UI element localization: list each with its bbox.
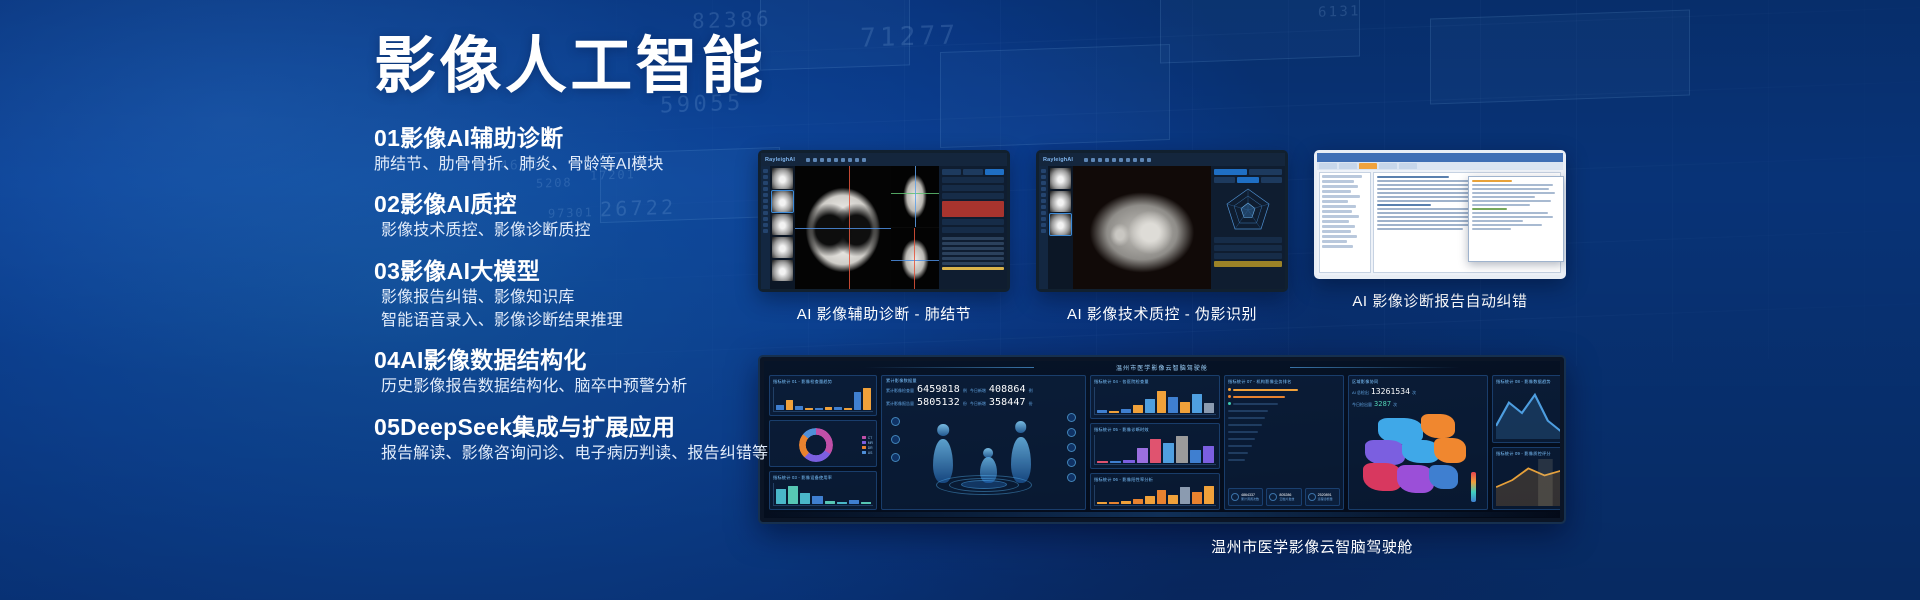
- feature-desc: 历史影像报告数据结构化、脑卒中预警分析: [374, 376, 844, 399]
- chart-legend: CT MR DR US: [862, 436, 873, 455]
- ranking-list[interactable]: [1228, 387, 1340, 486]
- feature-title: 04AI影像数据结构化: [374, 345, 844, 376]
- document-body: [1317, 170, 1563, 275]
- findings-row[interactable]: [942, 193, 1004, 199]
- map-region[interactable]: [1434, 438, 1466, 462]
- map-kpi-label: 今日检出量: [1352, 402, 1372, 408]
- tab[interactable]: [1319, 163, 1337, 169]
- feature-desc: 影像报告纠错、影像知识库: [374, 287, 844, 310]
- series-thumbnail[interactable]: [1050, 168, 1071, 189]
- dashboard-bezel: 温州市医学影像云智脑驾驶舱 指标统计 01 - 影像检查量趋势: [758, 355, 1566, 524]
- map-kpi-row: AI 总检出 13261534 次: [1352, 387, 1484, 396]
- map-kpi-value: 13261534: [1371, 387, 1410, 396]
- panel-button[interactable]: [963, 169, 982, 175]
- figure-adult-right: [1011, 437, 1031, 483]
- dashboard-card-spark1[interactable]: 指标统计 08 - 影像数据趋势: [1492, 375, 1560, 443]
- page-title: 影像人工智能: [374, 34, 844, 101]
- reset-icon[interactable]: [855, 158, 859, 162]
- hologram-ring-inner: [961, 480, 1007, 489]
- dashboard-column-6: 指标统计 08 - 影像数据趋势 指标统计 09 - 影像质控评分: [1492, 375, 1560, 510]
- figure-adult-left: [933, 439, 953, 483]
- list-item[interactable]: [1228, 422, 1340, 428]
- list-item[interactable]: [1228, 387, 1340, 393]
- hero-unit2: 例: [1029, 388, 1033, 394]
- app-body: [1039, 166, 1285, 289]
- panel-button-row[interactable]: [942, 169, 1004, 175]
- hero-label2: 今日新增: [970, 388, 986, 394]
- tab[interactable]: [1379, 163, 1397, 169]
- tab[interactable]: [1399, 163, 1417, 169]
- layout-icon[interactable]: [848, 158, 852, 162]
- dashboard-hero-panel[interactable]: 累计影像数据量 累计影像检查量 6459818 例 今日新增 408864 例 …: [881, 375, 1086, 510]
- summary-tile[interactable]: 805286 云胶片发放: [1266, 488, 1301, 506]
- card-header: 指标统计 09 - 影像质控评分: [1496, 451, 1560, 457]
- app-titlebar: [1317, 153, 1563, 162]
- screenshot-frame-2: RayleighAI: [1036, 150, 1288, 292]
- qc-score-panel[interactable]: [1211, 166, 1285, 289]
- feature-title: 05DeepSeek集成与扩展应用: [374, 412, 844, 443]
- orbit-node-icon[interactable]: [1067, 473, 1076, 482]
- correction-popup-panel[interactable]: [1468, 176, 1564, 262]
- feature-list: 影像人工智能 01影像AI辅助诊断 肺结节、肋骨骨折、肺炎、骨龄等AI模块 02…: [374, 34, 844, 478]
- list-item[interactable]: [1228, 429, 1340, 435]
- feature-title: 02影像AI质控: [374, 189, 844, 220]
- map-kpi-row: 今日检出量 3287 次: [1352, 400, 1484, 408]
- card-header: 指标统计 07 - 机构影像业务排名: [1228, 379, 1340, 385]
- feature-desc: 肺结节、肋骨骨折、肺炎、骨龄等AI模块: [374, 154, 844, 177]
- qc-result-row[interactable]: [1214, 237, 1282, 243]
- list-item[interactable]: [1228, 408, 1340, 414]
- hero-value2: 358447: [989, 397, 1026, 408]
- feature-desc: 报告解读、影像咨询问诊、电子病历判读、报告纠错等: [374, 443, 844, 466]
- bar-chart: [1094, 485, 1216, 506]
- hero-label2: 今日新增: [970, 401, 986, 407]
- orbit-node-icon[interactable]: [1067, 458, 1076, 467]
- panel-button-active[interactable]: [1237, 177, 1258, 183]
- qc-result-row[interactable]: [1214, 253, 1282, 259]
- feature-desc-line2: 智能语音录入、影像诊断结果推理: [374, 310, 844, 333]
- map-region[interactable]: [1429, 465, 1458, 489]
- pan-icon[interactable]: [1098, 158, 1102, 162]
- series-thumbnail-selected[interactable]: [1050, 214, 1071, 235]
- print-icon[interactable]: [1140, 158, 1144, 162]
- report-tree-panel[interactable]: [1319, 172, 1371, 273]
- qc-result-row[interactable]: [1214, 245, 1282, 251]
- hero-unit2: 份: [1029, 401, 1033, 407]
- screenshot-caption-3: AI 影像诊断报告自动纠错: [1314, 290, 1566, 311]
- card-header: 区域影像协同: [1352, 379, 1484, 385]
- dashboard-column-3: 指标统计 04 - 各医院检查量: [1090, 375, 1220, 510]
- qc-radar-chart: [1214, 185, 1282, 235]
- app-titlebar: RayleighAI: [1039, 153, 1285, 166]
- ct-coronal-viewport[interactable]: [891, 166, 939, 227]
- orbit-node-icon[interactable]: [1067, 413, 1076, 422]
- text-icon[interactable]: [1133, 158, 1137, 162]
- report-highlight-line: [942, 267, 1004, 270]
- zoom-icon[interactable]: [1091, 158, 1095, 162]
- report-text-line: [942, 237, 1004, 240]
- hero-stat-row: 累计影像检查量 6459818 例 今日新增 408864 例: [886, 384, 1081, 395]
- card-header: 指标统计 08 - 影像数据趋势: [1496, 379, 1560, 385]
- bar-chart: [1094, 387, 1216, 415]
- summary-tiles: 4864337 累计调阅次数 805286 云胶片发放: [1228, 488, 1340, 506]
- tab[interactable]: [1339, 163, 1357, 169]
- ai-findings-panel[interactable]: [939, 166, 1007, 289]
- report-text-line: [942, 247, 1004, 250]
- cloud-icon: [1269, 493, 1277, 501]
- list-item[interactable]: [1228, 443, 1340, 449]
- panel-button[interactable]: [1214, 177, 1235, 183]
- dashboard-card[interactable]: 温州市医学影像云智脑驾驶舱 指标统计 01 - 影像检查量趋势: [758, 355, 1566, 557]
- report-text-line: [942, 262, 1004, 265]
- map-kpi-label: AI 总检出: [1352, 390, 1369, 396]
- list-item[interactable]: [1228, 415, 1340, 421]
- map-region[interactable]: [1421, 414, 1455, 438]
- feature-title: 01影像AI辅助诊断: [374, 123, 844, 154]
- list-item[interactable]: [1228, 394, 1340, 400]
- region-map[interactable]: [1352, 412, 1484, 506]
- map-color-scale: [1471, 472, 1476, 502]
- card-header: 指标统计 06 - 影像阳性率分析: [1094, 477, 1216, 483]
- findings-row-alert[interactable]: [942, 201, 1004, 217]
- report-text-line: [942, 242, 1004, 245]
- document-tabs[interactable]: [1317, 162, 1563, 170]
- hero-hologram-figures: [887, 413, 1080, 499]
- hospital-icon: [1231, 493, 1239, 501]
- crosshair-vertical: [914, 228, 915, 289]
- ct-qc-image: [1073, 166, 1211, 289]
- screenshot-frame-3: [1314, 150, 1566, 279]
- bar-chart: [1094, 435, 1216, 465]
- cursor-icon[interactable]: [1084, 158, 1088, 162]
- panel-button-row[interactable]: [1214, 169, 1282, 175]
- report-text-line: [942, 257, 1004, 260]
- panel-button-row[interactable]: [1214, 177, 1282, 183]
- ct-secondary-viewports[interactable]: [891, 166, 939, 289]
- export-icon[interactable]: [862, 158, 866, 162]
- orbit-node-icon[interactable]: [1067, 428, 1076, 437]
- bar-chart: [773, 483, 873, 506]
- findings-row[interactable]: [942, 219, 1004, 225]
- hero-unit: 例: [963, 388, 967, 394]
- panel-button[interactable]: [942, 169, 961, 175]
- hero-unit: 份: [963, 401, 967, 407]
- summary-tile[interactable]: 4864337 累计调阅次数: [1228, 488, 1263, 506]
- orbit-node-icon[interactable]: [891, 453, 900, 462]
- dashboard-card-ranking[interactable]: 指标统计 07 - 机构影像业务排名: [1224, 375, 1344, 510]
- list-item[interactable]: [1228, 436, 1340, 442]
- hero-label: 累计影像检查量: [886, 388, 914, 394]
- hero-value: 6459818: [917, 384, 960, 395]
- map-kpi-value: 3287: [1374, 400, 1391, 408]
- legend-label: DR: [868, 446, 873, 450]
- map-region[interactable]: [1365, 440, 1405, 464]
- settings-icon[interactable]: [1147, 158, 1151, 162]
- map-kpi-unit: 次: [1393, 402, 1397, 408]
- ct-qc-viewport[interactable]: [1073, 166, 1211, 289]
- crosshair-vertical: [915, 166, 916, 227]
- feature-item-05: 05DeepSeek集成与扩展应用 报告解读、影像咨询问诊、电子病历判读、报告纠…: [374, 412, 844, 466]
- report-text-line: [942, 252, 1004, 255]
- line-chart: [1496, 459, 1560, 506]
- tile-label: 累计调阅次数: [1241, 497, 1259, 501]
- list-item[interactable]: [1228, 450, 1340, 456]
- hero-value2: 408864: [989, 384, 1026, 395]
- summary-tile[interactable]: 2520891 远程诊断量: [1305, 488, 1340, 506]
- series-thumbnail-list[interactable]: [1048, 166, 1073, 289]
- legend-label: US: [868, 451, 873, 455]
- findings-row[interactable]: [942, 177, 1004, 183]
- list-item[interactable]: [1228, 401, 1340, 407]
- orbit-node-icon[interactable]: [891, 435, 900, 444]
- banner-root: 82386 71277 59055 26722 46398 5208 17201…: [0, 0, 1920, 600]
- orbit-node-icon[interactable]: [891, 417, 900, 426]
- findings-row[interactable]: [942, 227, 1004, 233]
- screenshot-card-3[interactable]: AI 影像诊断报告自动纠错: [1314, 150, 1566, 311]
- qc-result-row-warning[interactable]: [1214, 261, 1282, 267]
- dashboard-card-mixed[interactable]: 指标统计 06 - 影像阳性率分析: [1090, 473, 1220, 510]
- network-icon: [1308, 493, 1316, 501]
- ct-sagittal-viewport[interactable]: [891, 228, 939, 289]
- series-thumbnail[interactable]: [1050, 191, 1071, 212]
- toolbar-icons[interactable]: [1084, 158, 1151, 162]
- tile-label: 远程诊断量: [1318, 497, 1333, 501]
- hero-stats: 累计影像数据量 累计影像检查量 6459818 例 今日新增 408864 例 …: [886, 378, 1081, 410]
- card-header: 指标统计 04 - 各医院检查量: [1094, 379, 1216, 385]
- findings-row[interactable]: [942, 185, 1004, 191]
- dashboard-title: 温州市医学影像云智脑驾驶舱: [764, 363, 1560, 372]
- dashboard-screen[interactable]: 温州市医学影像云智脑驾驶舱 指标统计 01 - 影像检查量趋势: [764, 361, 1560, 518]
- feature-item-02: 02影像AI质控 影像技术质控、影像诊断质控: [374, 189, 844, 243]
- feature-desc: 影像技术质控、影像诊断质控: [374, 220, 844, 243]
- dashboard-footer-bar: [764, 512, 1560, 517]
- tab-active[interactable]: [1359, 163, 1377, 169]
- feature-title: 03影像AI大模型: [374, 256, 844, 287]
- feature-item-01: 01影像AI辅助诊断 肺结节、肋骨骨折、肺炎、骨龄等AI模块: [374, 123, 844, 177]
- dashboard-caption: 温州市医学影像云智脑驾驶舱: [758, 536, 1566, 557]
- list-item[interactable]: [1228, 457, 1340, 463]
- tile-label: 云胶片发放: [1279, 497, 1294, 501]
- app-logo-label: RayleighAI: [1043, 157, 1073, 163]
- hero-value: 5805132: [917, 397, 960, 408]
- screenshot-caption-2: AI 影像技术质控 - 伪影识别: [1036, 303, 1288, 324]
- media-gallery: RayleighAI: [740, 0, 1920, 600]
- panel-tab[interactable]: [1249, 169, 1282, 175]
- contrast-icon[interactable]: [1105, 158, 1109, 162]
- legend-label: MR: [868, 441, 873, 445]
- hero-stat-row: 累计影像报告量 5805132 份 今日新增 358447 份: [886, 397, 1081, 408]
- line-chart: [1496, 387, 1560, 439]
- orbit-node-icon[interactable]: [1067, 443, 1076, 452]
- card-header: 指标统计 05 - 影像诊断时效: [1094, 427, 1216, 433]
- dashboard-card-bar4[interactable]: 指标统计 05 - 影像诊断时效: [1090, 423, 1220, 469]
- dashboard-card-map[interactable]: 区域影像协同 AI 总检出 13261534 次 今日检出量 3287 次: [1348, 375, 1488, 510]
- left-tool-rail[interactable]: [1039, 166, 1048, 289]
- feature-item-04: 04AI影像数据结构化 历史影像报告数据结构化、脑卒中预警分析: [374, 345, 844, 399]
- panel-tab-active[interactable]: [1214, 169, 1247, 175]
- feature-item-03: 03影像AI大模型 影像报告纠错、影像知识库 智能语音录入、影像诊断结果推理: [374, 256, 844, 332]
- panel-button[interactable]: [1261, 177, 1282, 183]
- roi-icon[interactable]: [1126, 158, 1130, 162]
- screenshot-card-2[interactable]: RayleighAI: [1036, 150, 1288, 324]
- dashboard-card-bar3[interactable]: 指标统计 04 - 各医院检查量: [1090, 375, 1220, 419]
- dashboard-card-spark2[interactable]: 指标统计 09 - 影像质控评分: [1492, 447, 1560, 510]
- map-kpi-unit: 次: [1412, 390, 1416, 396]
- angle-icon[interactable]: [1119, 158, 1123, 162]
- panel-button-active[interactable]: [985, 169, 1004, 175]
- ruler-icon[interactable]: [1112, 158, 1116, 162]
- hero-label: 累计影像报告量: [886, 401, 914, 407]
- legend-label: CT: [868, 436, 873, 440]
